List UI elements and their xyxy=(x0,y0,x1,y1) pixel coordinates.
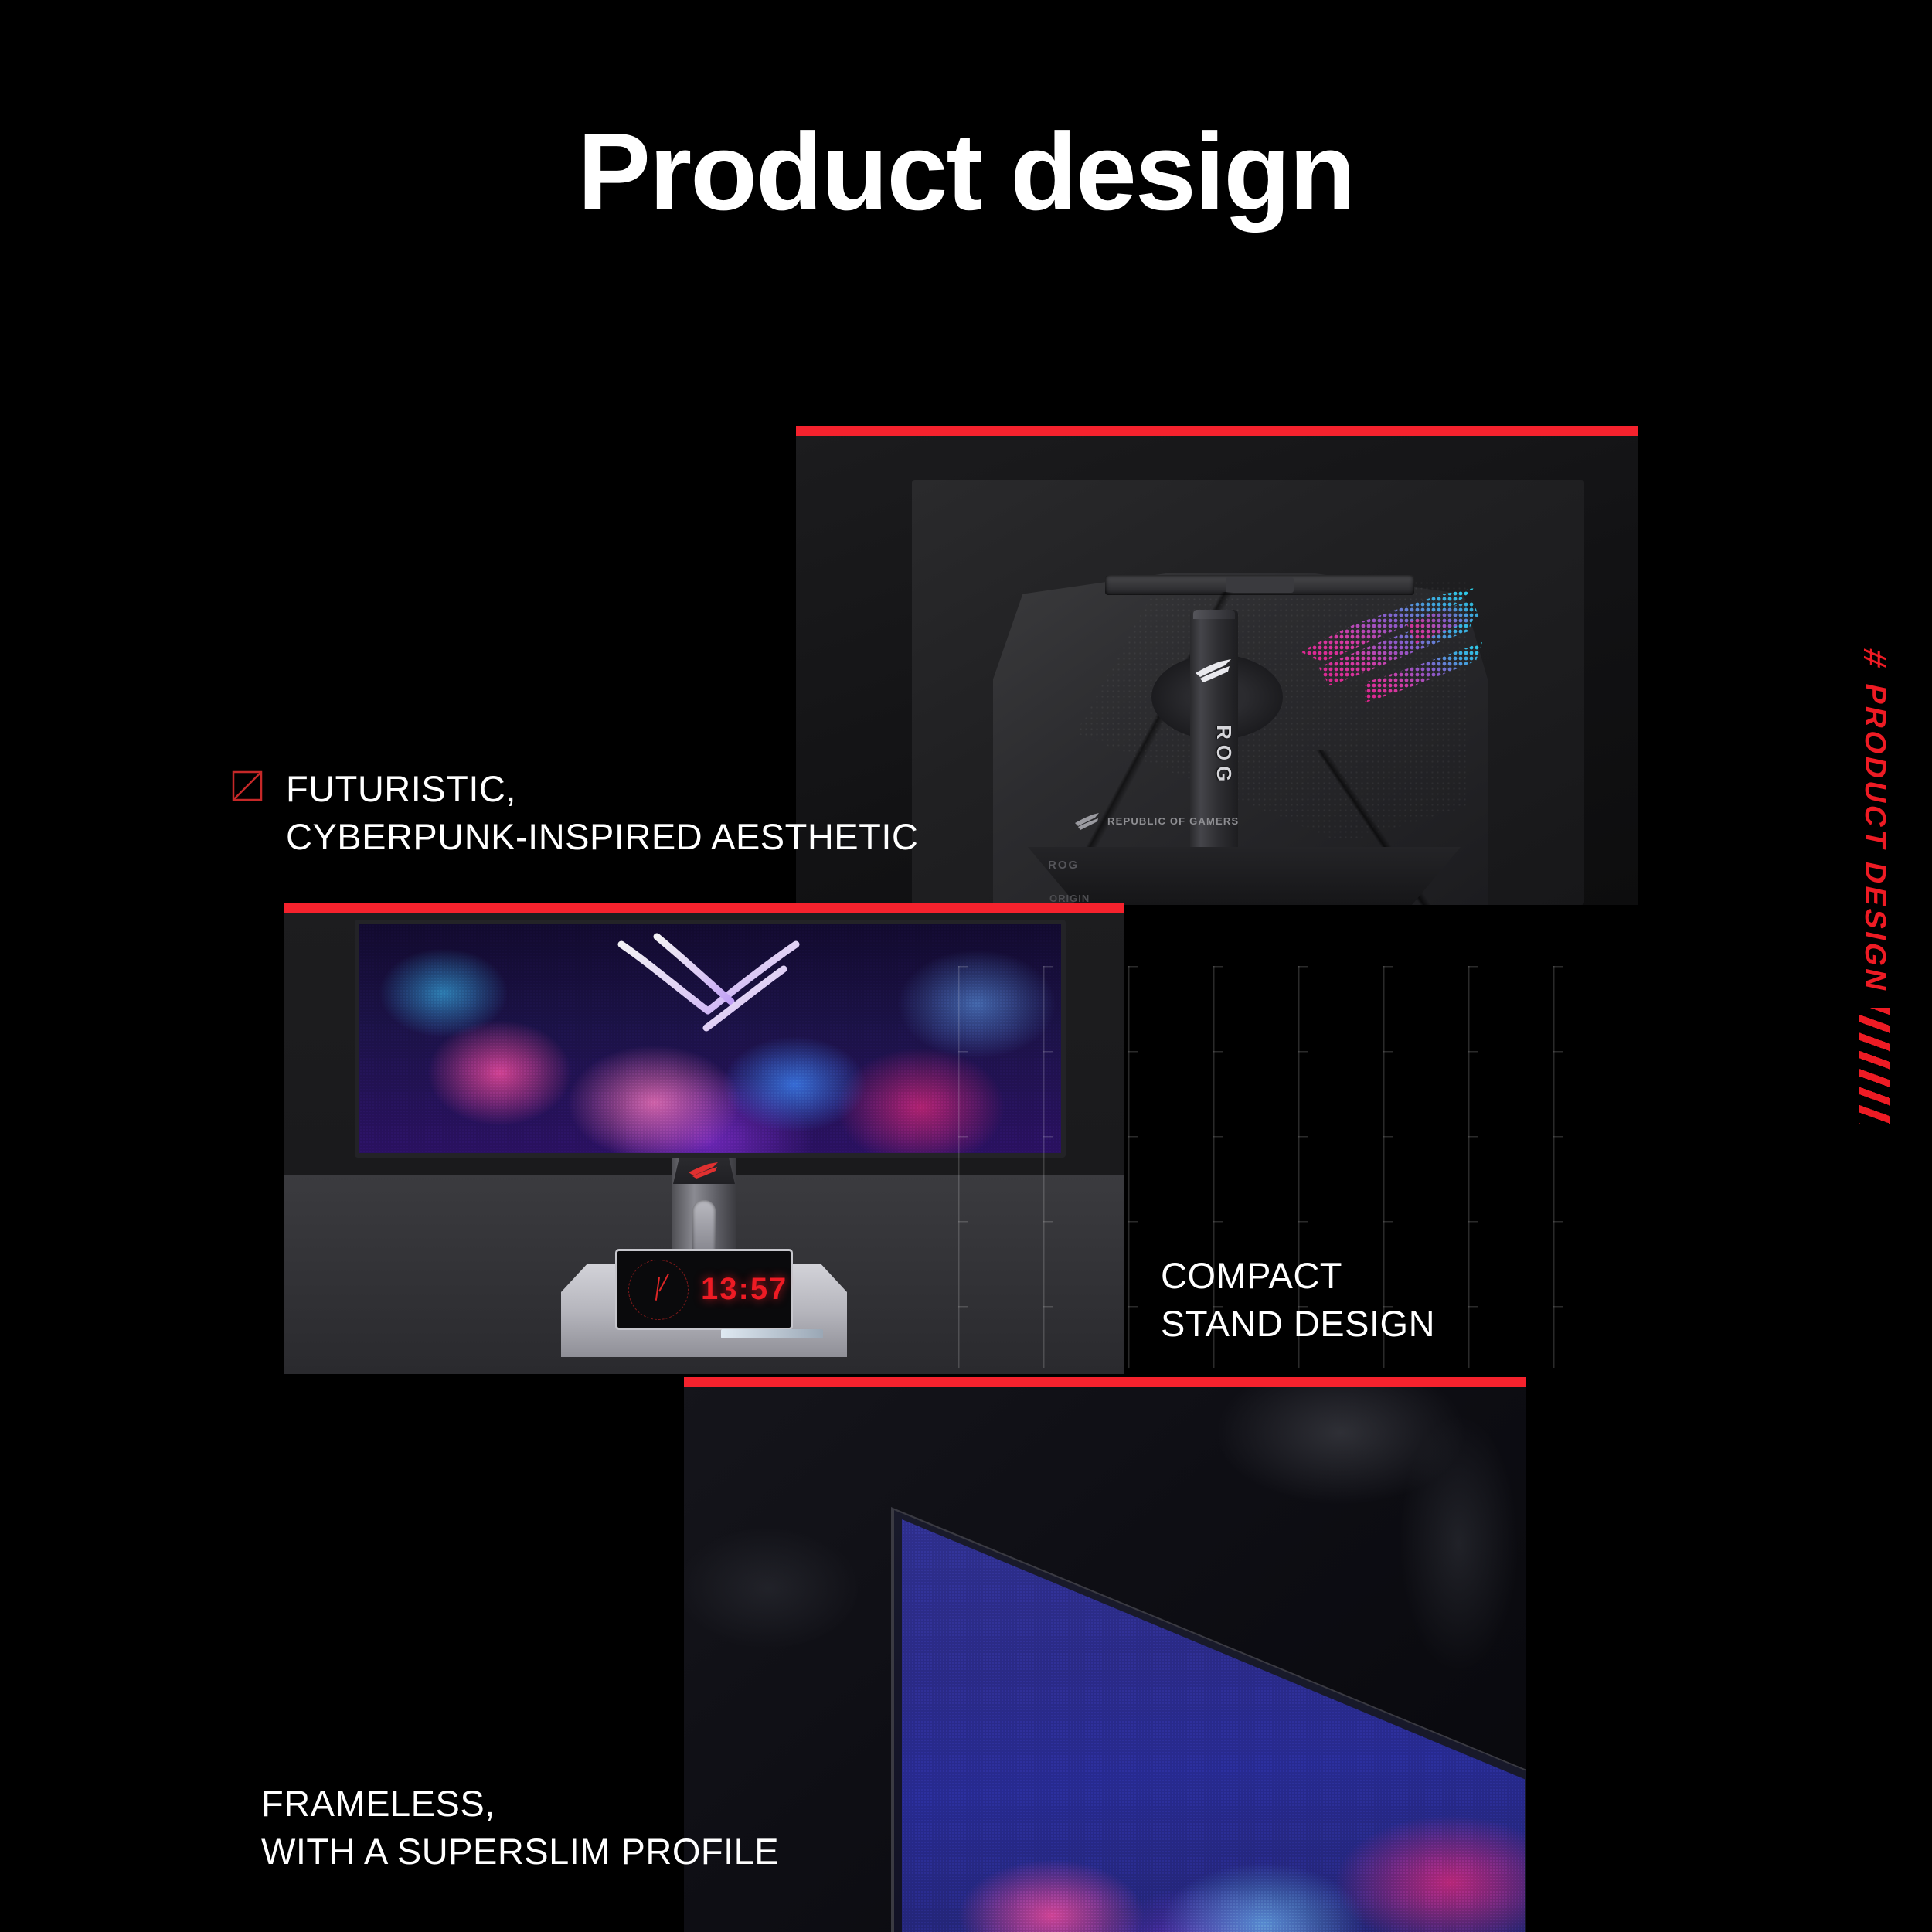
republic-of-gamers-badge: REPUBLIC OF GAMERS xyxy=(1074,812,1239,831)
monitor-screen xyxy=(355,920,1066,1158)
accent-bar-top xyxy=(684,1377,1526,1387)
republic-of-gamers-label: REPUBLIC OF GAMERS xyxy=(1107,815,1239,828)
caption-frameless: FRAMELESS, WITH A SUPERSLIM PROFILE xyxy=(261,1780,779,1876)
caption-compact-stand: COMPACT STAND DESIGN xyxy=(1161,1252,1435,1348)
slashed-square-bullet-icon xyxy=(232,770,263,801)
base-accent-strip xyxy=(721,1329,823,1338)
stand-rog-logo-icon xyxy=(673,1158,735,1184)
rog-rgb-logo-icon xyxy=(1291,580,1484,723)
accent-bar-top xyxy=(284,903,1124,913)
panel-monitor-front-view[interactable]: 13:57 xyxy=(284,903,1124,1374)
accent-bar-top xyxy=(796,426,1638,436)
side-rail-label: PRODUCT DESIGN xyxy=(1859,681,1892,997)
caption-futuristic: FUTURISTIC, CYBERPUNK-INSPIRED AESTHETIC xyxy=(286,765,918,861)
slide-canvas: Product design xyxy=(0,0,1932,1932)
panel-monitor-rear-view[interactable]: ROG REPUBLIC OF GAMERS ROG ORIGIN xyxy=(796,426,1638,905)
rear-lower-shroud xyxy=(1028,847,1461,905)
hash-icon: # xyxy=(1856,645,1893,675)
panel-frameless-closeup[interactable] xyxy=(684,1377,1526,1932)
analog-clock-icon xyxy=(628,1260,689,1320)
page-title: Product design xyxy=(0,117,1932,227)
stand-rog-label: ROG xyxy=(1192,698,1236,814)
diagonal-stripes-icon xyxy=(1859,1008,1890,1124)
rear-foot-brand: ROG xyxy=(1048,859,1079,872)
rog-eye-logo-icon xyxy=(1194,658,1234,684)
base-clock-display[interactable]: 13:57 xyxy=(615,1249,793,1330)
side-rail: # PRODUCT DESIGN xyxy=(1852,649,1898,1236)
rog-wallpaper-logo-icon xyxy=(590,930,830,1046)
clock-time-value: 13:57 xyxy=(701,1272,787,1307)
rog-eye-small-icon xyxy=(1074,812,1100,831)
